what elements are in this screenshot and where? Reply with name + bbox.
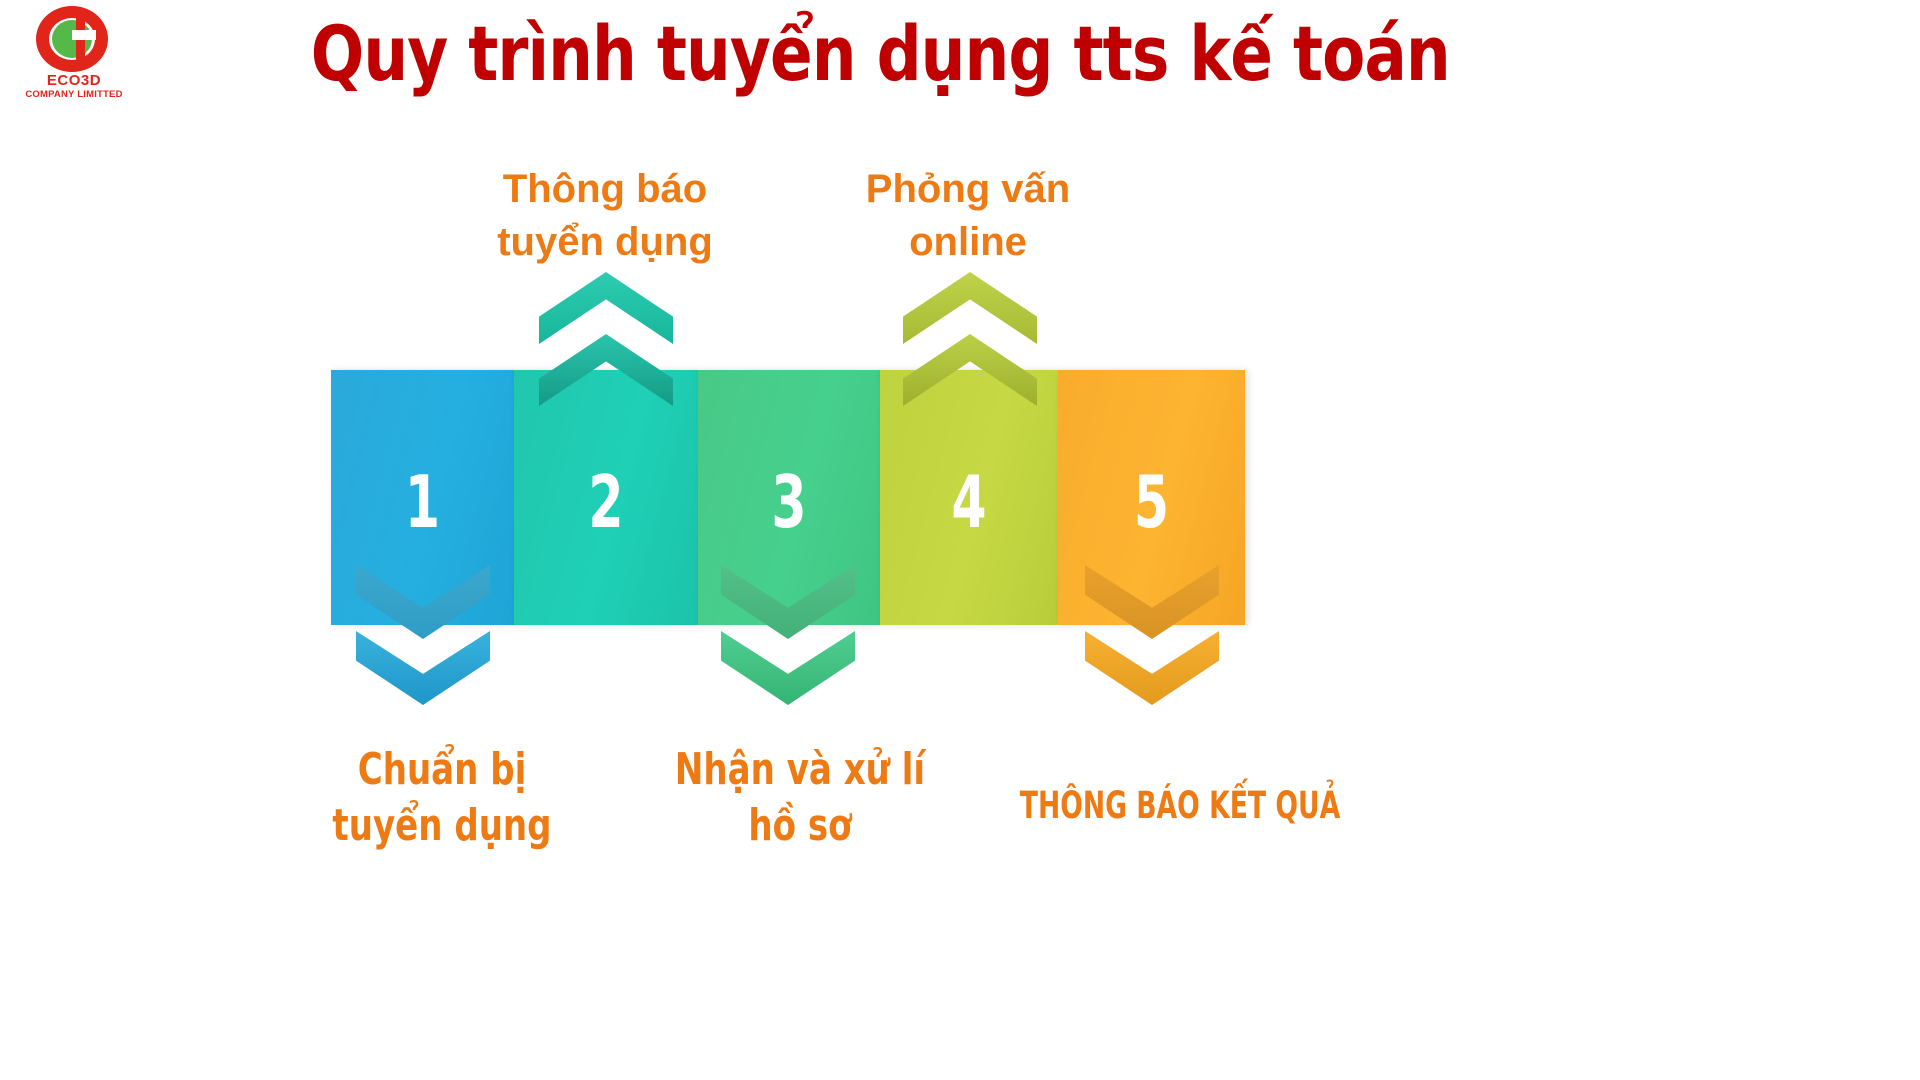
step-label-1-line-2: tuyển dụng	[304, 798, 579, 854]
step-label-4-line-2: online	[808, 216, 1128, 269]
step-arrow-down-1	[356, 565, 490, 715]
step-label-1: Chuẩn bị tuyển dụng	[304, 742, 579, 855]
process-diagram: 1 Chuẩn bị tuyển dụng 2 Thông báo tuyển …	[0, 0, 1920, 1080]
step-arrow-down-3	[721, 565, 855, 715]
step-arrow-up-2	[539, 272, 673, 412]
step-label-4-line-1: Phỏng vấn	[808, 163, 1128, 216]
step-label-2-line-2: tuyển dụng	[440, 216, 770, 269]
step-arrow-down-5	[1085, 565, 1219, 715]
step-label-2-line-1: Thông báo	[440, 163, 770, 216]
step-label-5: THÔNG BÁO KẾT QUẢ	[1000, 782, 1360, 831]
step-label-5-line-1: THÔNG BÁO KẾT QUẢ	[1000, 782, 1360, 831]
step-number-3: 3	[718, 466, 860, 538]
step-label-3: Nhận và xử lí hồ sơ	[645, 742, 955, 855]
step-number-2: 2	[534, 466, 678, 538]
step-number-1: 1	[351, 466, 494, 538]
slide-canvas: ECO3D COMPANY LIMITTED Quy trình tuyển d…	[0, 0, 1920, 1080]
step-number-5: 5	[1079, 466, 1225, 538]
step-label-3-line-2: hồ sơ	[645, 798, 955, 854]
step-number-4: 4	[900, 466, 1039, 538]
step-arrow-up-4	[903, 272, 1037, 412]
step-label-4: Phỏng vấn online	[808, 163, 1128, 269]
step-label-2: Thông báo tuyển dụng	[440, 163, 770, 269]
step-label-1-line-1: Chuẩn bị	[304, 742, 579, 798]
step-label-3-line-1: Nhận và xử lí	[645, 742, 955, 798]
